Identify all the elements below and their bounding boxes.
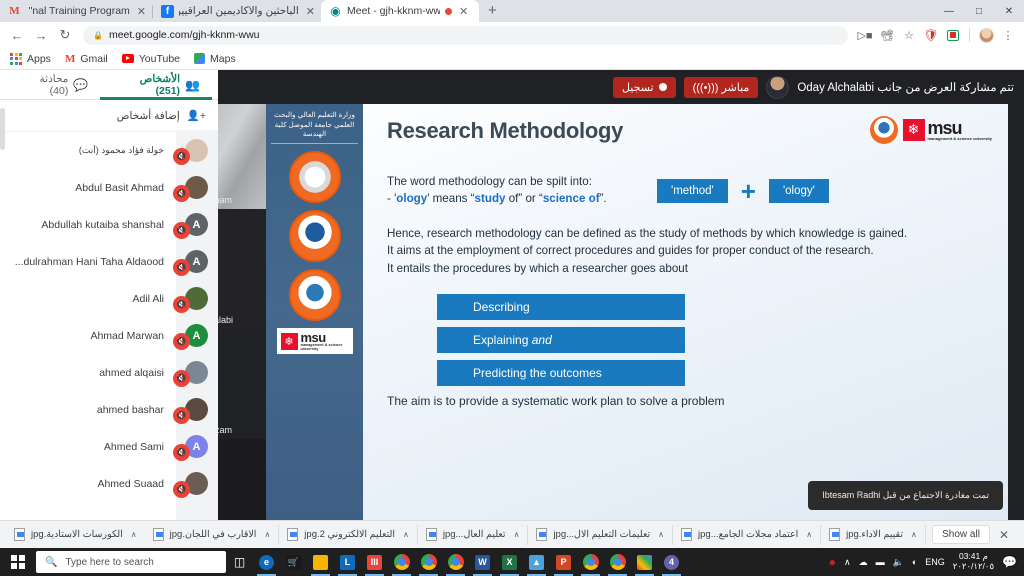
file-icon	[14, 528, 25, 541]
tab-people-label: الأشخاص (251)	[112, 73, 180, 97]
lead-line-2: - 'ology' means “study of” or “science o…	[387, 191, 657, 208]
chrome-icon-3[interactable]	[577, 548, 604, 576]
shared-presentation-slide[interactable]: وزارة التعليم العالي والبحث العلمي جامعة…	[266, 104, 1008, 520]
mic-off-icon: 🔇	[173, 370, 190, 387]
live-label: مباشر (((•)))	[693, 81, 750, 94]
bar-predicting: Predicting the outcomes	[437, 360, 685, 386]
back-icon[interactable]: ←	[6, 24, 28, 46]
download-filename: تقييم الاداء.jpg	[846, 529, 903, 540]
chrome-profile-icon[interactable]	[442, 548, 469, 576]
search-placeholder: Type here to search	[65, 557, 153, 568]
maps-icon	[194, 53, 205, 64]
meet-icon: ◉	[329, 5, 342, 18]
bookmark-label: Gmail	[80, 53, 107, 65]
chevron-up-icon[interactable]: ∧	[911, 530, 917, 539]
participants-panel: 👥 الأشخاص (251) 💬 محادثة (40) 👤+ إضافة أ…	[0, 70, 218, 520]
bookmark-label: YouTube	[139, 53, 180, 65]
shield-icon[interactable]: ●	[829, 555, 836, 569]
clock-date: ٢٠٢٠/١٢/٠٥	[953, 562, 994, 572]
meeting-toast-notification: تمت مغادرة الاجتماع من قبل Ibtesam Radhi	[808, 481, 1003, 510]
download-filename: تعليم العال...jpg	[443, 529, 506, 540]
network-icon[interactable]: ◐	[912, 557, 917, 567]
profile-avatar[interactable]	[976, 24, 996, 46]
download-filename: الكورسات الاستادية.jpg	[31, 529, 123, 540]
bookmark-apps[interactable]: Apps	[10, 53, 51, 65]
download-filename: التعليم الالكتروني 2.jpg	[304, 529, 395, 540]
tab-chat[interactable]: 💬 محادثة (40)	[6, 70, 100, 100]
tab-people[interactable]: 👥 الأشخاص (251)	[100, 70, 212, 100]
chat-icon: 💬	[73, 78, 88, 92]
methodology-split-row: The word methodology can be spilt into: …	[387, 174, 990, 208]
camera-icon[interactable]: ▷■	[855, 24, 875, 46]
download-item[interactable]: تقييم الاداء.jpg ∧	[821, 525, 926, 545]
slide-content: ❄ msu management & science university Re…	[363, 104, 1008, 520]
system-tray: ● ∧ ☁ ▬ 🔈 ◐ ENG 03:41 م ٢٠٢٠/١٢/٠٥ 💬	[829, 552, 1024, 572]
mic-off-icon: 🔇	[173, 444, 190, 461]
tab-chat-label: محادثة (40)	[18, 73, 68, 97]
lead-suffix: ”.	[600, 192, 607, 205]
bookmark-star-icon[interactable]: ☆	[899, 24, 919, 46]
tab-close-icon[interactable]: ✕	[137, 5, 146, 18]
msu-mark-icon: ❄	[903, 119, 925, 141]
media-icon[interactable]: III	[361, 548, 388, 576]
msu-mark-icon: ❄	[281, 333, 298, 350]
plus-icon: +	[741, 178, 756, 204]
task-view-icon[interactable]: ◫	[226, 548, 253, 576]
participant-name: ahmed bashar	[12, 404, 164, 416]
lead-prefix: - '	[387, 192, 396, 205]
notification-icon[interactable]: 💬	[1002, 555, 1017, 569]
add-people-button[interactable]: 👤+ إضافة أشخاص	[0, 100, 218, 132]
download-item[interactable]: التعليم الالكتروني 2.jpg ∧	[279, 525, 418, 545]
mic-off-icon: 🔇	[173, 148, 190, 165]
show-all-downloads-button[interactable]: Show all	[932, 525, 990, 544]
address-bar-value: meet.google.com/gjh-kknm-wwu	[109, 29, 260, 41]
tab-close-icon[interactable]: ✕	[306, 5, 315, 18]
download-item[interactable]: تعليمات التعليم الال...jpg ∧	[528, 525, 673, 545]
bar-explaining-text: Explaining	[473, 333, 532, 347]
teams-icon[interactable]: 4	[658, 548, 685, 576]
windows-taskbar: 🔍 Type here to search ◫ e 🛒 L III W X ▲ …	[0, 548, 1024, 576]
slide-header-logos: ❄ msu management & science university	[870, 116, 992, 144]
procedure-bars: Describing Explaining and Predicting the…	[437, 294, 990, 386]
msu-wordmark: msu	[928, 119, 992, 137]
file-icon	[536, 528, 547, 541]
chrome-icon-4[interactable]	[604, 548, 631, 576]
youtube-icon	[122, 54, 134, 63]
participants-list[interactable]: 🔇 خولة فؤاد محمود (أنت) 🔇 Abdul Basit Ah…	[0, 132, 218, 520]
mosul-university-seal-icon	[289, 210, 341, 262]
ministry-seal-icon	[289, 151, 341, 203]
keyword-ology: ology	[396, 192, 427, 205]
participant-name: Abdullah kutaiba shanshal	[12, 219, 164, 231]
bookmark-label: Apps	[27, 53, 51, 65]
download-item[interactable]: الاقارب في اللجان.jpg ∧	[145, 525, 280, 545]
file-icon	[153, 528, 164, 541]
download-filename: اعتماد مجلات الجامع...jpg	[698, 529, 798, 540]
gmail-icon: M	[65, 53, 75, 65]
bar-describing: Describing	[437, 294, 685, 320]
browser-tab-0[interactable]: M nal Training Program" :دعوة صف ✕	[0, 0, 152, 22]
people-icon: 👥	[185, 78, 200, 92]
excel-icon[interactable]: X	[496, 548, 523, 576]
windows-start-icon[interactable]	[0, 548, 36, 576]
onedrive-l-icon[interactable]: L	[334, 548, 361, 576]
engineering-college-seal-icon	[289, 269, 341, 321]
close-downloads-bar-icon[interactable]: ✕	[990, 528, 1018, 542]
download-filename: الاقارب في اللجان.jpg	[170, 529, 257, 540]
taskbar-search-input[interactable]: 🔍 Type here to search	[36, 551, 226, 573]
bookmark-youtube[interactable]: YouTube	[122, 53, 180, 65]
definition-paragraph-2: It aims at the employment of correct pro…	[387, 243, 990, 260]
mic-off-icon: 🔇	[173, 222, 190, 239]
lead-text-block: The word methodology can be spilt into: …	[387, 174, 657, 208]
tray-chevron-icon[interactable]: ∧	[844, 557, 851, 568]
keyword-science-of: science of	[543, 192, 600, 205]
msu-logo-rail: ❄ msu management & science university	[277, 328, 353, 354]
lead-mid-1: ' means “	[427, 192, 474, 205]
participant-name: ahmed alqaisi	[12, 367, 164, 379]
browser-tab-1[interactable]: f الباحثين والاكاديمين العراقيين (10) ✕	[153, 0, 321, 22]
apps-grid-icon	[10, 53, 22, 65]
university-seal-icon	[870, 116, 898, 144]
participant-name: Ahmed Suaad	[12, 478, 164, 490]
close-window-button[interactable]: ✕	[994, 0, 1024, 22]
record-button[interactable]: تسجيل	[613, 77, 676, 98]
add-people-label: إضافة أشخاص	[117, 110, 180, 122]
cloud-icon[interactable]: ☁	[859, 557, 868, 568]
facebook-icon: f	[161, 5, 174, 18]
download-item[interactable]: تعليم العال...jpg ∧	[418, 525, 529, 545]
new-tab-button[interactable]: +	[479, 0, 506, 22]
screen-root: M nal Training Program" :دعوة صف ✕ f الب…	[0, 0, 1024, 576]
mic-off-icon: 🔇	[173, 185, 190, 202]
maximize-button[interactable]: □	[964, 0, 994, 22]
downloads-bar: الكورسات الاستادية.jpg ∧ الاقارب في اللج…	[0, 520, 1024, 548]
keyword-study: study	[475, 192, 506, 205]
download-filename: تعليمات التعليم الال...jpg	[553, 529, 650, 540]
browser-toolbar: ← → ↻ 🔒 meet.google.com/gjh-kknm-wwu ▷■ …	[0, 22, 1024, 48]
word-icon[interactable]: W	[469, 548, 496, 576]
chrome-icon-2[interactable]	[415, 548, 442, 576]
participant-name: ...dulrahman Hani Taha Aldaood	[12, 256, 164, 268]
msu-tagline: management & science university	[928, 137, 992, 142]
chevron-up-icon[interactable]: ∧	[403, 530, 409, 539]
minimize-button[interactable]: —	[934, 0, 964, 22]
slide-logo-rail: وزارة التعليم العالي والبحث العلمي جامعة…	[266, 104, 363, 520]
cast-icon[interactable]: 📽	[877, 24, 897, 46]
participant-name: Abdul Basit Ahmad	[12, 182, 164, 194]
volume-icon[interactable]: 🔈	[893, 557, 904, 568]
panel-tabs: 👥 الأشخاص (251) 💬 محادثة (40)	[0, 70, 218, 100]
chevron-up-icon[interactable]: ∧	[131, 530, 137, 539]
participant-name: Ahmad Marwan	[12, 330, 164, 342]
bar-explaining: Explaining and	[437, 327, 685, 353]
panel-scrollbar[interactable]	[0, 100, 5, 520]
chevron-up-icon[interactable]: ∧	[514, 530, 520, 539]
tab-close-icon[interactable]: ✕	[459, 5, 468, 18]
store-icon[interactable]: 🛒	[280, 548, 307, 576]
chevron-up-icon[interactable]: ∧	[806, 530, 812, 539]
chrome-icon[interactable]	[388, 548, 415, 576]
colorful-app-icon[interactable]	[631, 548, 658, 576]
msu-logo-header: ❄ msu management & science university	[903, 119, 992, 142]
recording-indicator-icon	[445, 8, 452, 15]
mic-off-icon: 🔇	[173, 407, 190, 424]
mic-off-icon: 🔇	[173, 259, 190, 276]
edge-icon[interactable]: e	[253, 548, 280, 576]
file-icon	[426, 528, 437, 541]
window-controls: — □ ✕	[934, 0, 1024, 22]
meet-top-bar: تسجيل مباشر (((•))) تتم مشاركة العرض من …	[218, 70, 1024, 104]
file-explorer-icon[interactable]	[307, 548, 334, 576]
file-icon	[829, 528, 840, 541]
language-indicator[interactable]: ENG	[925, 557, 945, 567]
extension-icon[interactable]	[943, 24, 963, 46]
record-label: تسجيل	[622, 81, 654, 94]
chip-method: 'method'	[657, 179, 728, 203]
chip-ology: 'ology'	[769, 179, 829, 203]
scrollbar-thumb[interactable]	[0, 108, 5, 150]
lock-icon: 🔒	[93, 31, 103, 40]
bookmark-label: Maps	[210, 53, 236, 65]
lead-mid-2: of” or “	[505, 192, 542, 205]
download-item[interactable]: اعتماد مجلات الجامع...jpg ∧	[673, 525, 821, 545]
bookmarks-bar: Apps M Gmail YouTube Maps	[0, 48, 1024, 70]
record-dot-icon	[659, 83, 667, 91]
browser-tab-2-meet[interactable]: ◉ Meet - gjh-kknm-wwu ✕	[321, 0, 479, 22]
powerpoint-icon[interactable]: P	[550, 548, 577, 576]
photos-icon[interactable]: ▲	[523, 548, 550, 576]
reload-icon[interactable]: ↻	[54, 24, 76, 46]
live-stream-button[interactable]: مباشر (((•)))	[684, 77, 759, 98]
bar-explaining-italic: and	[532, 333, 552, 347]
participant-name: Adil Ali	[12, 293, 164, 305]
lead-line-1: The word methodology can be spilt into:	[387, 174, 657, 191]
closing-statement: The aim is to provide a systematic work …	[387, 394, 990, 408]
participant-name: خولة فؤاد محمود (أنت)	[12, 145, 164, 156]
adblock-extension-icon[interactable]: 🛡	[921, 24, 941, 46]
download-item[interactable]: الكورسات الاستادية.jpg ∧	[6, 525, 145, 545]
presenter-avatar	[766, 76, 789, 99]
bookmark-maps[interactable]: Maps	[194, 53, 236, 65]
browser-tab-title: nal Training Program" :دعوة صف	[26, 5, 130, 17]
mic-off-icon: 🔇	[173, 333, 190, 350]
mic-off-icon: 🔇	[173, 481, 190, 498]
presentation-notice: تتم مشاركة العرض من جانب Oday Alchalabi	[797, 80, 1014, 94]
address-bar[interactable]: 🔒 meet.google.com/gjh-kknm-wwu	[83, 26, 848, 45]
browser-tab-strip: M nal Training Program" :دعوة صف ✕ f الب…	[0, 0, 1024, 22]
mic-off-icon: 🔇	[173, 296, 190, 313]
participant-name: Ahmed Sami	[12, 441, 164, 453]
taskbar-clock[interactable]: 03:41 م ٢٠٢٠/١٢/٠٥	[953, 552, 994, 572]
bookmark-gmail[interactable]: M Gmail	[65, 53, 108, 65]
browser-tab-title: الباحثين والاكاديمين العراقيين (10)	[179, 5, 299, 17]
add-person-icon: 👤+	[187, 109, 206, 122]
rail-university-text: وزارة التعليم العالي والبحث العلمي جامعة…	[271, 110, 358, 144]
definition-paragraph-1: Hence, research methodology can be defin…	[387, 226, 990, 243]
battery-icon[interactable]: ▬	[876, 557, 885, 567]
browser-tab-title: Meet - gjh-kknm-wwu	[347, 5, 440, 17]
toolbar-divider	[969, 28, 970, 42]
search-icon: 🔍	[45, 557, 57, 568]
chevron-up-icon[interactable]: ∧	[264, 530, 270, 539]
definition-block: Hence, research methodology can be defin…	[387, 226, 990, 278]
msu-tagline: management & science university	[301, 344, 349, 351]
file-icon	[681, 528, 692, 541]
definition-paragraph-3: It entails the procedures by which a res…	[387, 261, 990, 278]
chevron-up-icon[interactable]: ∧	[658, 530, 664, 539]
file-icon	[287, 528, 298, 541]
more-menu-icon[interactable]: ⋮	[998, 24, 1018, 46]
forward-icon[interactable]: →	[30, 24, 52, 46]
gmail-icon: M	[8, 5, 21, 18]
